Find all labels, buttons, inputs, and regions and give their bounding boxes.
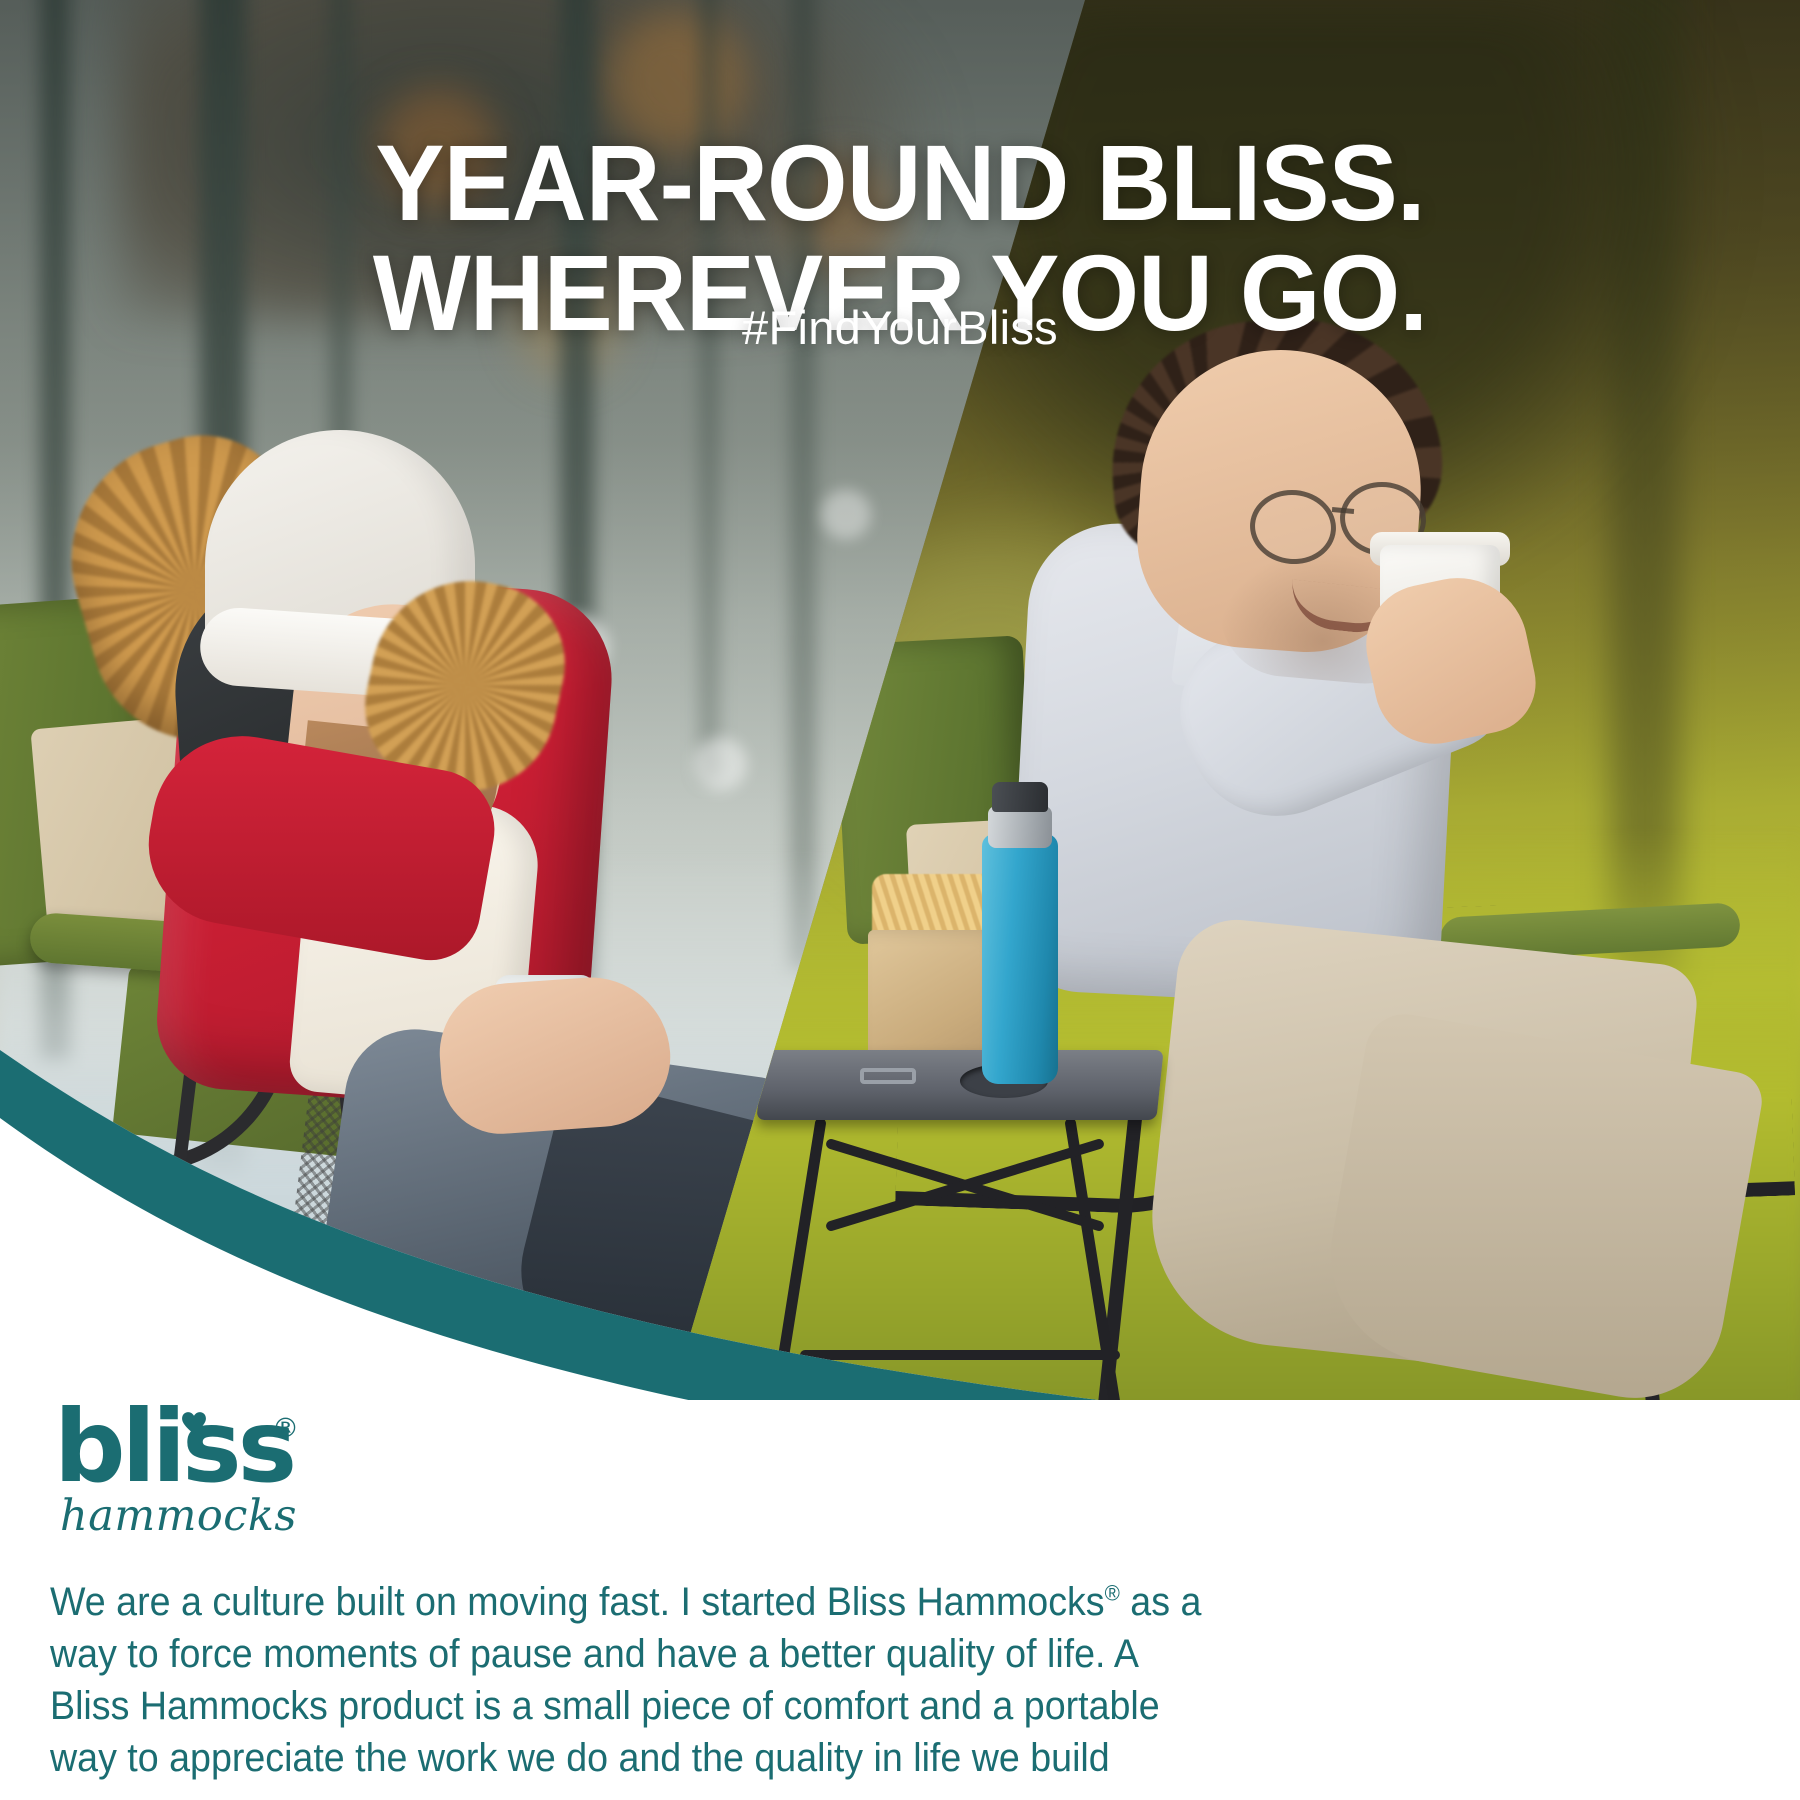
table-handle [860, 1068, 916, 1084]
founder-statement: We are a culture built on moving fast. I… [50, 1576, 1216, 1784]
winter-man-hands [435, 972, 675, 1138]
water-bottle [982, 834, 1058, 1084]
water-bottle-cap [992, 782, 1048, 812]
logo-subtext: hammocks [60, 1491, 297, 1541]
advertisement-canvas: YEAR-ROUND BLISS. WHEREVER YOU GO. #Find… [0, 0, 1800, 1800]
side-table-group [760, 1050, 1190, 1450]
hero-hashtag: #FindYourBliss [0, 300, 1800, 355]
summer-subject-group [780, 350, 1800, 1470]
bliss-hammocks-logo[interactable]: bliss ® hammocks [46, 1395, 346, 1555]
heart-icon [181, 1411, 207, 1435]
winter-subject-group [0, 420, 760, 1470]
side-table-bar [800, 1350, 1120, 1360]
side-table-leg [1064, 1117, 1126, 1445]
registered-trademark-mark: ® [272, 1413, 299, 1444]
founder-statement-part1: We are a culture built on moving fast. I… [50, 1580, 1105, 1624]
side-table-leg [764, 1117, 826, 1445]
water-bottle-neck [988, 806, 1052, 848]
hero-photo-band: YEAR-ROUND BLISS. WHEREVER YOU GO. #Find… [0, 0, 1800, 1470]
logo-wordmark: bliss [54, 1397, 293, 1497]
registered-mark-inline: ® [1105, 1581, 1120, 1606]
side-table-top [756, 1050, 1163, 1120]
